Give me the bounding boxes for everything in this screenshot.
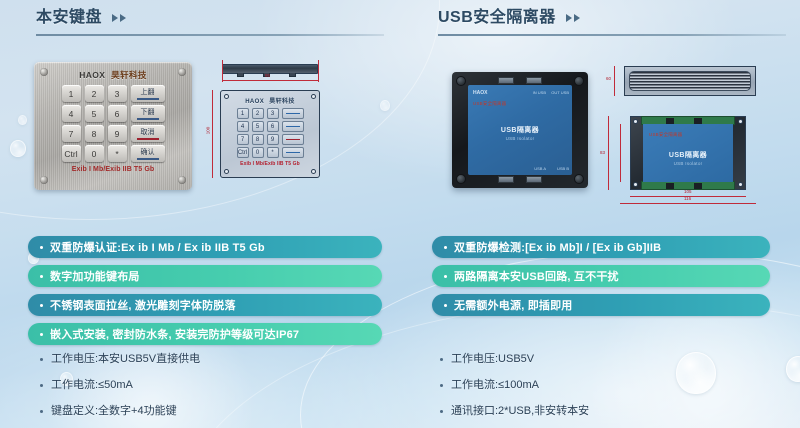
keypad-cad-brand: HAOX 昊轩科技 [227, 96, 313, 105]
keypad-cad-key: 0 [252, 147, 264, 158]
bullet-dot-icon [444, 275, 447, 278]
keypad-cad-brand-latin: HAOX [245, 99, 264, 105]
left-section-title-row: 本安键盘 [36, 8, 396, 28]
keypad-cad-key: 2 [252, 108, 264, 119]
isolator-cad-sub-label: USB安全隔离器 [649, 132, 682, 138]
screw-icon [224, 169, 229, 174]
left-section-title: 本安键盘 [36, 8, 102, 28]
cad-extension-line [222, 60, 223, 82]
mounting-lug-icon [574, 174, 584, 184]
keypad-cad-key-page-down [282, 121, 304, 132]
screw-icon [178, 68, 186, 76]
keypad-key-ctrl[interactable]: Ctrl [62, 145, 81, 162]
keypad-cad-cert-label: Exib I Mb/Exib IIB T5 Gb [227, 161, 313, 167]
spec-label: 工作电压:USB5V [451, 352, 534, 366]
screw-icon [40, 68, 48, 76]
keypad-cad-key: 8 [252, 134, 264, 145]
water-droplet-icon [18, 115, 27, 125]
cad-dimension-line [614, 66, 615, 96]
cad-dimension-value: 85 [265, 73, 270, 78]
spec-row: 工作电流:≤50mA [40, 378, 200, 392]
isolator-brand: HAOX [473, 90, 487, 96]
keypad-key[interactable]: * [108, 145, 127, 162]
bullet-dot-icon [440, 358, 443, 361]
feature-pill-label: 嵌入式安装, 密封防水条, 安装完防护等级可达IP67 [50, 326, 299, 342]
keypad-key[interactable]: 3 [108, 85, 127, 102]
usb-isolator-faceplate: HAOX USB安全隔离器 IN USB OUT USB USB A USB B… [468, 85, 572, 175]
keypad-key-grid: 1 2 3 上翻 4 5 6 下翻 7 8 9 取消 Ctrl 0 * 确认 [43, 85, 183, 162]
spec-label: 通讯接口:2*USB,非安转本安 [451, 404, 589, 418]
isolator-port-label-a: USB A [534, 166, 546, 171]
right-spec-list: 工作电压:USB5V 工作电流:≤100mA 通讯接口:2*USB,非安转本安 [440, 352, 589, 428]
keypad-brand-cn: 昊轩科技 [111, 70, 147, 80]
isolator-title-cn: USB隔离器 [501, 127, 539, 134]
isolator-cad-title-en: USB Isolator [643, 161, 733, 166]
bullet-dot-icon [40, 333, 43, 336]
isolator-port-label-out: OUT USB [551, 90, 569, 95]
cad-dimension-line [608, 116, 609, 190]
usb-connector-icon [526, 176, 542, 183]
isolator-sub-label: USB安全隔离器 [473, 101, 506, 107]
spec-row: 工作电压:USB5V [440, 352, 589, 366]
keypad-key[interactable]: 1 [62, 85, 81, 102]
isolator-title-en: USB Isolator [468, 136, 572, 141]
spec-row: 通讯接口:2*USB,非安转本安 [440, 404, 589, 418]
screw-icon [738, 119, 743, 124]
screw-icon [224, 94, 229, 99]
isolator-cad-front-view: USB安全隔离器 USB隔离器 USB Isolator [630, 116, 746, 190]
keypad-cad-front-view: HAOX 昊轩科技 1 2 3 4 5 6 7 8 9 Ctrl 0 * [220, 90, 320, 178]
keypad-key-cancel[interactable]: 取消 [131, 125, 165, 142]
water-droplet-icon [786, 356, 800, 382]
spec-row: 键盘定义:全数字+4功能键 [40, 404, 200, 418]
bullet-dot-icon [440, 384, 443, 387]
right-feature-list: 双重防爆检测:[Ex ib Mb]I / [Ex ib Gb]IIB 两路隔离本… [432, 236, 770, 323]
keypad-cad-key: 7 [237, 134, 249, 145]
water-droplet-icon [10, 140, 26, 157]
isolator-cad-title-cn: USB隔离器 [669, 152, 707, 159]
right-section-title: USB安全隔离器 [438, 8, 556, 28]
screw-icon [40, 176, 48, 184]
bullet-dot-icon [40, 384, 43, 387]
left-column-header: 本安键盘 [36, 8, 396, 36]
feature-pill: 不锈钢表面拉丝, 激光雕刻字体防脱落 [28, 294, 382, 316]
mounting-lug-icon [456, 76, 466, 86]
mounting-lug-icon [574, 76, 584, 86]
cad-dimension-line [222, 80, 318, 81]
feature-pill-label: 双重防爆检测:[Ex ib Mb]I / [Ex ib Gb]IIB [454, 239, 661, 255]
usb-connector-icon [498, 77, 514, 84]
bullet-dot-icon [444, 246, 447, 249]
keypad-key[interactable]: 9 [108, 125, 127, 142]
cad-dimension-value: 100 [205, 127, 210, 135]
cad-dimension-line [620, 203, 756, 204]
feature-pill: 两路隔离本安USB回路, 互不干扰 [432, 265, 770, 287]
keypad-key[interactable]: 6 [108, 105, 127, 122]
isolator-cad-side-view [624, 66, 756, 96]
spec-label: 工作电压:本安USB5V直接供电 [51, 352, 200, 366]
isolator-cad-faceplate: USB安全隔离器 USB隔离器 USB Isolator [643, 124, 733, 182]
keypad-key-confirm[interactable]: 确认 [131, 145, 165, 162]
cad-extension-line [318, 60, 319, 82]
mounting-lug-icon [456, 174, 466, 184]
feature-pill: 无需额外电源, 即插即用 [432, 294, 770, 316]
vent-grille-icon [629, 71, 751, 91]
double-right-arrow-icon [566, 14, 580, 22]
keypad-cad-key: * [267, 147, 279, 158]
keypad-cad-key-grid: 1 2 3 4 5 6 7 8 9 Ctrl 0 * [227, 108, 313, 158]
screw-icon [311, 94, 316, 99]
keypad-cad-key: 3 [267, 108, 279, 119]
screw-icon [633, 119, 638, 124]
feature-pill: 数字加功能键布局 [28, 265, 382, 287]
isolator-port-label-b: USB B [557, 166, 569, 171]
keypad-brand: HAOX 昊轩科技 [43, 69, 183, 81]
cad-dimension-value: 105 [684, 189, 692, 194]
bullet-dot-icon [40, 358, 43, 361]
bullet-dot-icon [440, 410, 443, 413]
keypad-brand-latin: HAOX [79, 70, 105, 80]
left-feature-list: 双重防爆认证:Ex ib I Mb / Ex ib IIB T5 Gb 数字加功… [28, 236, 382, 352]
screw-icon [633, 182, 638, 187]
feature-pill-label: 不锈钢表面拉丝, 激光雕刻字体防脱落 [50, 297, 236, 313]
feature-pill-label: 两路隔离本安USB回路, 互不干扰 [454, 268, 619, 284]
usb-connector-icon [526, 77, 542, 84]
bullet-dot-icon [40, 275, 43, 278]
cad-dimension-value: 60 [606, 76, 611, 81]
feature-pill-label: 无需额外电源, 即插即用 [454, 297, 573, 313]
spec-label: 工作电流:≤50mA [51, 378, 133, 392]
keypad-key-page-down[interactable]: 下翻 [131, 105, 165, 122]
water-droplet-icon [380, 100, 390, 111]
left-spec-list: 工作电压:本安USB5V直接供电 工作电流:≤50mA 键盘定义:全数字+4功能… [40, 352, 200, 428]
keypad-key[interactable]: 4 [62, 105, 81, 122]
cad-dimension-line [620, 124, 621, 182]
double-right-arrow-icon [112, 14, 126, 22]
isolator-cad-title: USB隔离器 USB Isolator [643, 150, 733, 166]
feature-pill-label: 双重防爆认证:Ex ib I Mb / Ex ib IIB T5 Gb [50, 239, 265, 255]
keypad-cad-key-cancel [282, 134, 304, 145]
right-section-title-row: USB安全隔离器 [438, 8, 798, 28]
keypad-key[interactable]: 5 [85, 105, 104, 122]
feature-pill-label: 数字加功能键布局 [50, 268, 140, 284]
keypad-product-photo: HAOX 昊轩科技 1 2 3 上翻 4 5 6 下翻 7 8 9 取消 Ctr… [34, 62, 192, 190]
feature-pill: 双重防爆认证:Ex ib I Mb / Ex ib IIB T5 Gb [28, 236, 382, 258]
water-droplet-icon [676, 352, 716, 394]
cad-dimension-value: 83 [600, 150, 605, 155]
cad-dimension-line [212, 90, 213, 178]
spec-row: 工作电流:≤100mA [440, 378, 589, 392]
keypad-cad-brand-cn: 昊轩科技 [269, 99, 295, 105]
keypad-key[interactable]: 8 [85, 125, 104, 142]
bullet-dot-icon [40, 304, 43, 307]
slide-canvas: 本安键盘 USB安全隔离器 HAOX 昊轩科技 1 2 3 上翻 4 5 [0, 0, 800, 428]
right-header-divider [438, 34, 786, 36]
keypad-key[interactable]: 7 [62, 125, 81, 142]
keypad-cad-key: 5 [252, 121, 264, 132]
spec-label: 键盘定义:全数字+4功能键 [51, 404, 177, 418]
keypad-key-page-up[interactable]: 上翻 [131, 85, 165, 102]
left-header-divider [36, 34, 384, 36]
keypad-cad-key: 4 [237, 121, 249, 132]
keypad-cad-key: 9 [267, 134, 279, 145]
keypad-key[interactable]: 2 [85, 85, 104, 102]
isolator-port-label-in: IN USB [533, 90, 546, 95]
keypad-cad-key: 1 [237, 108, 249, 119]
screw-icon [738, 182, 743, 187]
usb-connector-icon [498, 176, 514, 183]
keypad-cad-key-confirm [282, 147, 304, 158]
bullet-dot-icon [40, 410, 43, 413]
cad-dimension-value: 116 [684, 196, 691, 201]
keypad-cad-key: 6 [267, 121, 279, 132]
bullet-dot-icon [40, 246, 43, 249]
screw-icon [178, 176, 186, 184]
feature-pill: 嵌入式安装, 密封防水条, 安装完防护等级可达IP67 [28, 323, 382, 345]
isolator-title: USB隔离器 USB Isolator [468, 125, 572, 141]
feature-pill: 双重防爆检测:[Ex ib Mb]I / [Ex ib Gb]IIB [432, 236, 770, 258]
keypad-cad-key-page-up [282, 108, 304, 119]
keypad-key[interactable]: 0 [85, 145, 104, 162]
screw-icon [311, 169, 316, 174]
spec-label: 工作电流:≤100mA [451, 378, 539, 392]
keypad-cert-label: Exib I Mb/Exib IIB T5 Gb [43, 166, 183, 173]
right-column-header: USB安全隔离器 [438, 8, 798, 36]
bullet-dot-icon [444, 304, 447, 307]
keypad-cad-key-ctrl: Ctrl [237, 147, 249, 158]
spec-row: 工作电压:本安USB5V直接供电 [40, 352, 200, 366]
usb-isolator-product-photo: HAOX USB安全隔离器 IN USB OUT USB USB A USB B… [452, 72, 588, 188]
